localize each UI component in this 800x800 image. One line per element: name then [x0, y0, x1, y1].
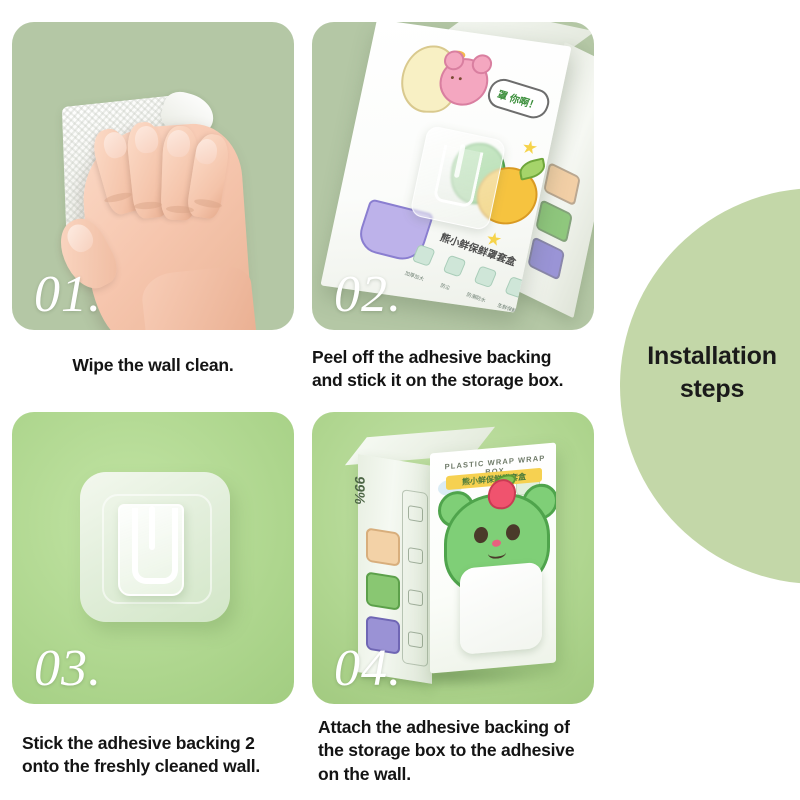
hook-prong-icon [132, 508, 178, 584]
spec-icon-1 [408, 505, 423, 522]
box-spec-panel [402, 489, 428, 667]
step-2-caption-line2: and stick it on the storage box. [312, 369, 602, 392]
step-3-caption-line2: onto the freshly cleaned wall. [22, 755, 312, 778]
step-2-caption: Peel off the adhesive backing and stick … [312, 346, 602, 393]
side-character-bear-orange [366, 527, 400, 566]
side-character-bear-green [535, 199, 573, 244]
step-3-number: 03. [34, 639, 102, 698]
step-4-caption: Attach the adhesive backing of the stora… [318, 716, 614, 786]
percent-badge: 99% [352, 475, 368, 526]
fingernail-ring [167, 130, 191, 158]
leaf-icon [518, 157, 547, 180]
box4-front-face: PLASTIC WRAP WRAP BOX 熊小鲜保鲜膜套盒 [430, 442, 556, 673]
step-2-image: •• 罩 你啊！ ★ ★ 熊小鲜保鲜罩套盒 加厚加大 防尘 [312, 22, 594, 330]
dispenser-opening [460, 562, 542, 655]
installation-steps-title: Installation steps [624, 340, 800, 406]
step-1-number: 01. [34, 265, 102, 324]
infographic-page: Installation steps 01. Wipe the wall cle… [0, 0, 800, 800]
feature-badge-icon [473, 265, 497, 288]
step-3-image: 03. [12, 412, 294, 704]
installation-steps-title-line1: Installation [624, 340, 800, 373]
step-2-caption-line1: Peel off the adhesive backing [312, 346, 602, 369]
step-3-caption: Stick the adhesive backing 2 onto the fr… [22, 732, 312, 779]
feature-badge-icon [442, 255, 466, 278]
feature-badge-icon [411, 244, 435, 267]
step-2-number: 02. [334, 265, 402, 324]
step-4-caption-line2: the storage box to the adhesive [318, 739, 614, 762]
step-4-caption-line1: Attach the adhesive backing of [318, 716, 614, 739]
spec-icon-3 [408, 589, 423, 606]
step-4-caption-line3: on the wall. [318, 763, 614, 786]
side-character-bear-purple [527, 236, 565, 281]
step-4-number: 04. [334, 639, 402, 698]
spec-icon-4 [408, 631, 423, 648]
step-4-image: 99% PLASTIC WRAP WRAP BOX 熊小鲜保鲜膜套盒 [312, 412, 594, 704]
step-1-caption: Wipe the wall clean. [12, 354, 294, 377]
side-character-bear-green [366, 571, 400, 610]
spec-icon-2 [408, 547, 423, 564]
step-3-caption-line1: Stick the adhesive backing 2 [22, 732, 312, 755]
step-1-caption-line1: Wipe the wall clean. [12, 354, 294, 377]
side-character-bear-orange [543, 162, 581, 207]
speech-bubble: 罩 你啊！ [484, 75, 554, 121]
step-1-image: 01. [12, 22, 294, 330]
installation-steps-title-line2: steps [624, 373, 800, 406]
